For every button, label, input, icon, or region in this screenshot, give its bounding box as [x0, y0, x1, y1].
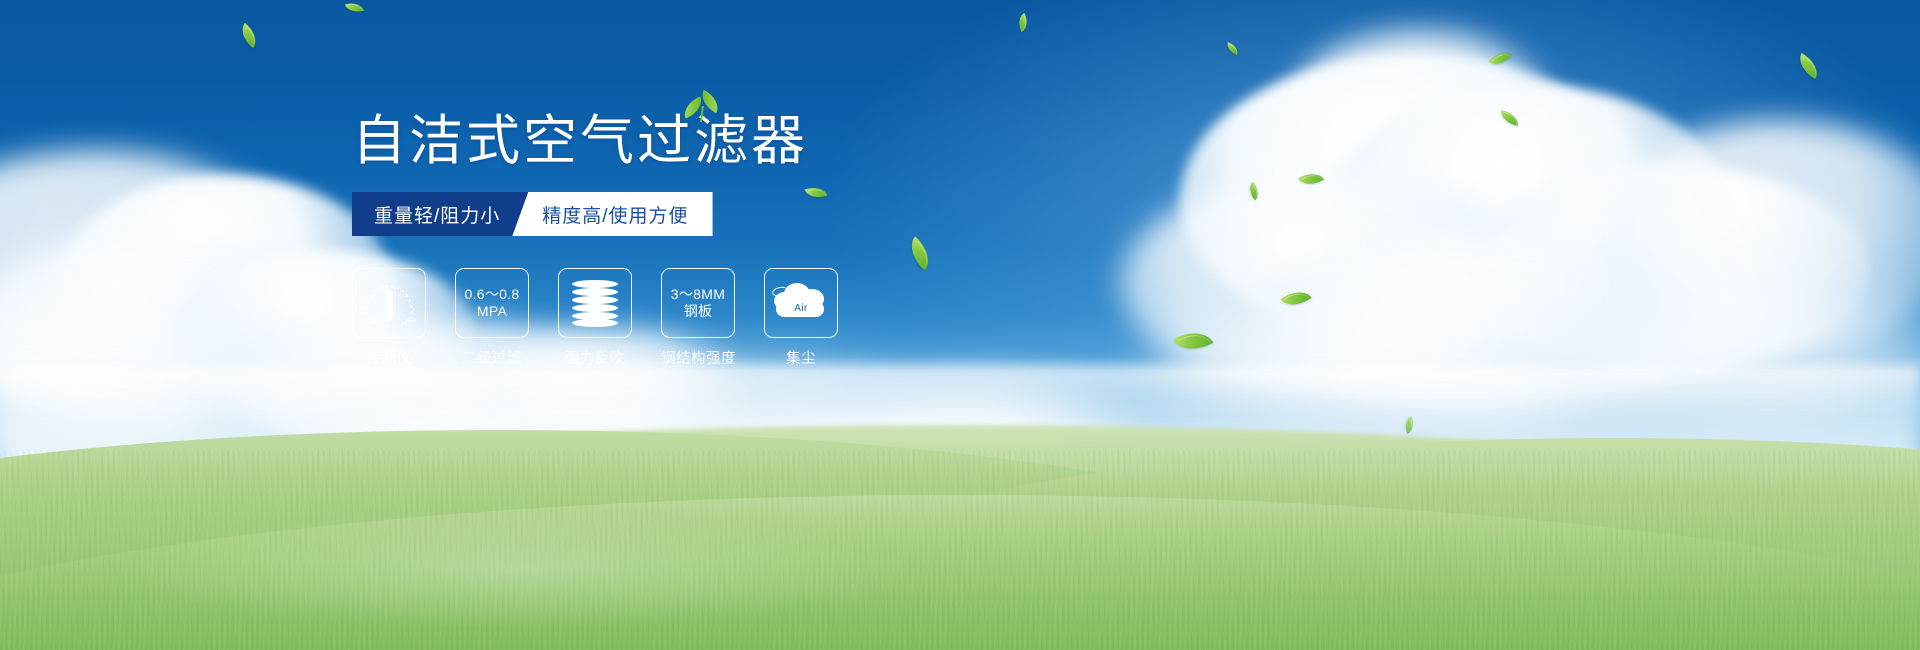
feature-item-pressure[interactable]: 0.6～0.8 MPA 二级过滤 [455, 268, 529, 368]
air-label: Air [774, 303, 828, 314]
feature-item-dust[interactable]: Air 集尘 [764, 268, 838, 368]
feature-item-blowback[interactable]: 强力反吹 [558, 268, 632, 368]
feature-icon-box: Air [764, 268, 838, 338]
leaf-stem [700, 106, 704, 122]
tag-badge-secondary[interactable]: 精度高/使用方便 [512, 192, 712, 236]
grass-highlight [115, 510, 921, 630]
gauge-label-off: OFF [406, 318, 417, 324]
feature-icon-box: NO OFF [352, 268, 426, 338]
headline-block: 自洁式空气过滤器 [352, 112, 1112, 170]
air-cloud-icon: Air [774, 281, 828, 325]
tag-group: 重量轻/阻力小 精度高/使用方便 [352, 192, 713, 236]
feature-item-controller[interactable]: NO OFF 控制仪 [352, 268, 426, 368]
steel-plate-text: 钢板 [684, 303, 713, 320]
steel-thickness-text: 3～8MM [671, 286, 725, 303]
feature-icon-box: 3～8MM 钢板 [661, 268, 735, 338]
feature-caption: 钢结构强度 [661, 347, 735, 368]
tag-badge-primary[interactable]: 重量轻/阻力小 [352, 192, 534, 236]
title-leaf-icon [682, 90, 726, 124]
coil-icon [572, 279, 618, 327]
feature-caption: 强力反吹 [558, 347, 632, 368]
page-title: 自洁式空气过滤器 [352, 112, 1112, 170]
grass-field [0, 380, 1920, 650]
banner-hero: 自洁式空气过滤器 重量轻/阻力小 精度高/使用方便 [0, 0, 1920, 650]
feature-caption: 控制仪 [352, 347, 426, 368]
pressure-unit-text: MPA [477, 303, 507, 320]
feature-icon-box [558, 268, 632, 338]
feature-caption: 二级过滤 [455, 347, 529, 368]
feature-item-steel[interactable]: 3～8MM 钢板 钢结构强度 [661, 268, 735, 368]
feature-icon-box: 0.6～0.8 MPA [455, 268, 529, 338]
feature-list: NO OFF 控制仪 0.6～0.8 MPA 二级过滤 [352, 268, 838, 368]
gauge-label-no: NO [361, 306, 369, 312]
gauge-needle [385, 289, 393, 321]
feature-caption: 集尘 [764, 347, 838, 368]
pressure-range-text: 0.6～0.8 [464, 286, 519, 303]
gauge-icon: NO OFF [363, 280, 415, 326]
grass-horizon-blend [0, 366, 1920, 412]
